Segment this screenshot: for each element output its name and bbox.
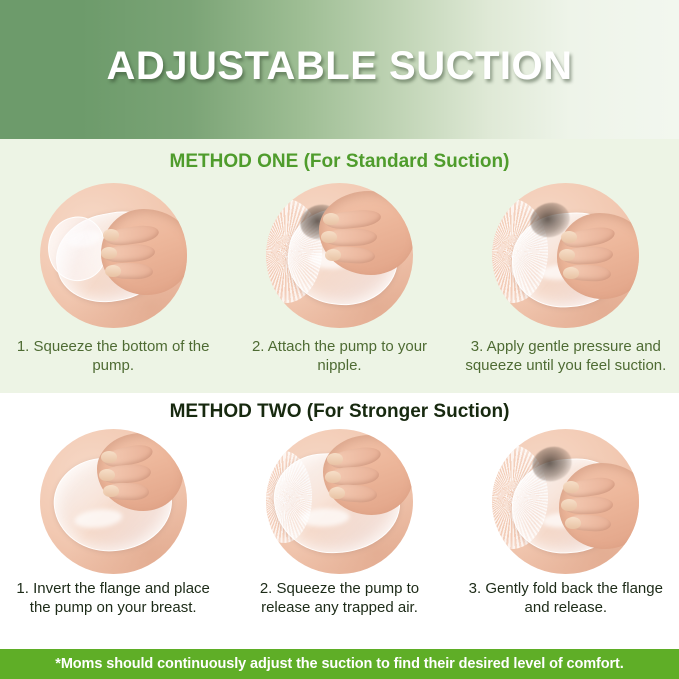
fingernail-shape — [561, 231, 577, 243]
fingernail-shape — [105, 265, 121, 277]
fingernail-shape — [325, 249, 341, 261]
fingernail-shape — [561, 499, 577, 511]
fingernail-shape — [563, 481, 579, 493]
fingernail-shape — [323, 213, 339, 225]
footer-note-text: *Moms should continuously adjust the suc… — [55, 656, 623, 672]
method-one-step-3-caption: 3. Apply gentle pressure and squeeze unt… — [453, 337, 679, 375]
fingernail-shape — [565, 517, 581, 529]
method-two-photo-row — [0, 427, 679, 575]
method-one-step-2-photo — [266, 183, 413, 328]
hand-shape — [323, 435, 413, 515]
hand-shape — [557, 213, 639, 299]
fingernail-shape — [321, 231, 337, 243]
page-title: ADJUSTABLE SUCTION — [0, 44, 679, 89]
fingernail-shape — [99, 469, 115, 481]
fingernail-shape — [103, 229, 119, 241]
fingernail-shape — [101, 451, 117, 463]
fingernail-shape — [325, 471, 341, 483]
method-two-step-2-caption: 2. Squeeze the pump to release any trapp… — [226, 579, 452, 617]
highlight-gloss — [73, 507, 123, 530]
method-one-heading: METHOD ONE (For Standard Suction) — [0, 151, 679, 173]
fingernail-shape — [101, 247, 117, 259]
method-one-step-3-photo — [492, 183, 639, 328]
method-two-step-3-photo — [492, 429, 639, 574]
method-one-step-1-caption: 1. Squeeze the bottom of the pump. — [0, 337, 226, 375]
method-two-heading: METHOD TWO (For Stronger Suction) — [0, 401, 679, 423]
fingernail-shape — [327, 453, 343, 465]
fingernail-shape — [329, 487, 345, 499]
hand-shape — [101, 209, 187, 295]
fingernail-shape — [559, 249, 575, 261]
footer-note-bar: *Moms should continuously adjust the suc… — [0, 649, 679, 679]
method-one-step-2-caption: 2. Attach the pump to your nipple. — [226, 337, 452, 375]
hand-shape — [559, 463, 639, 549]
method-one-caption-row: 1. Squeeze the bottom of the pump. 2. At… — [0, 337, 679, 375]
highlight-gloss — [299, 507, 350, 527]
header-banner: ADJUSTABLE SUCTION — [0, 0, 679, 139]
method-two-section: METHOD TWO (For Stronger Suction) — [0, 393, 679, 649]
method-one-step-1-photo — [40, 183, 187, 328]
method-one-photo-row — [0, 181, 679, 329]
method-two-step-3-caption: 3. Gently fold back the flange and relea… — [453, 579, 679, 617]
method-two-caption-row: 1. Invert the flange and place the pump … — [0, 579, 679, 617]
fingernail-shape — [103, 485, 119, 497]
infographic-page: ADJUSTABLE SUCTION METHOD ONE (For Stand… — [0, 0, 679, 679]
fingernail-shape — [563, 267, 579, 279]
method-two-step-2-photo — [266, 429, 413, 574]
method-one-section: METHOD ONE (For Standard Suction) — [0, 139, 679, 393]
method-two-step-1-caption: 1. Invert the flange and place the pump … — [0, 579, 226, 617]
method-two-step-1-photo — [40, 429, 187, 574]
